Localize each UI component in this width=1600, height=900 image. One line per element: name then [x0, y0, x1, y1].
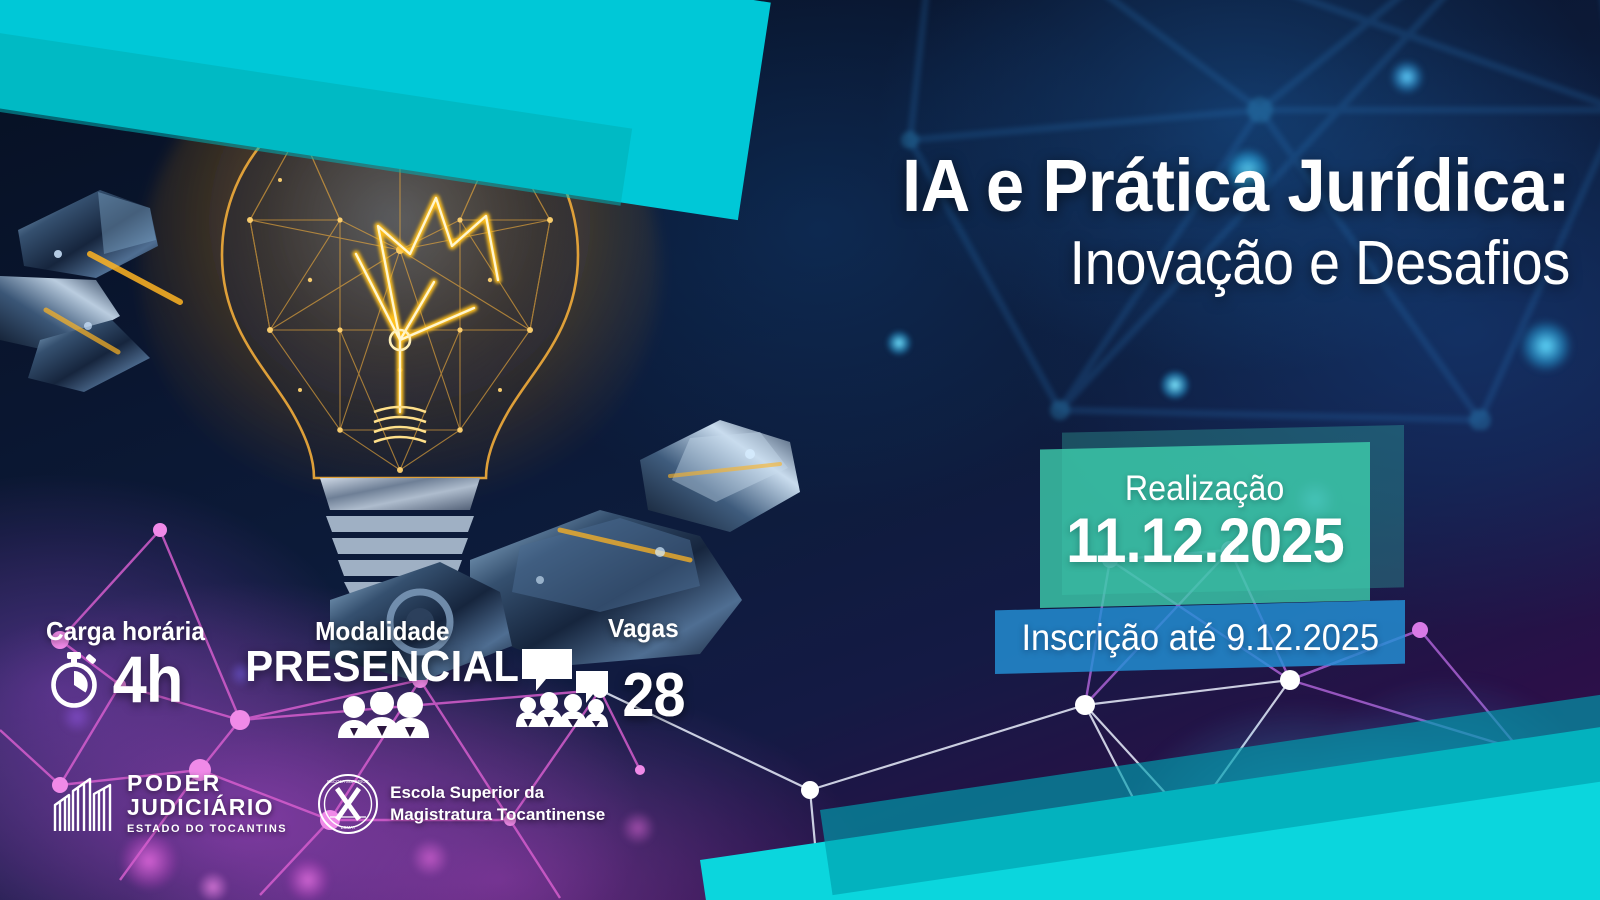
vagas-value: 28: [622, 665, 684, 727]
inscricao-badge: Inscrição até 9.12.2025: [995, 600, 1405, 674]
svg-text:ESCOLA SUPERIOR: ESCOLA SUPERIOR: [327, 779, 369, 784]
event-title: IA e Prática Jurídica:: [761, 150, 1570, 223]
poder-judiciario-line2: JUDICIÁRIO: [127, 796, 287, 820]
poder-judiciario-line3: ESTADO DO TOCANTINS: [127, 822, 287, 836]
logo-esmat: ESCOLA SUPERIOR ESMAT Escola Superior da…: [317, 773, 605, 835]
carga-horaria-label: Carga horária: [46, 618, 205, 644]
people-group-icon: [334, 692, 430, 738]
vagas-label: Vagas: [608, 615, 682, 641]
esmat-seal-icon: ESCOLA SUPERIOR ESMAT: [317, 773, 379, 835]
title-block: IA e Prática Jurídica: Inovação e Desafi…: [700, 150, 1570, 295]
carga-horaria-value: 4h: [113, 646, 183, 712]
inscricao-deadline: Inscrição até 9.12.2025: [1021, 619, 1379, 656]
modalidade-value: PRESENCIAL: [245, 645, 519, 689]
esmat-line1: Escola Superior da: [390, 782, 605, 804]
courthouse-building-icon: [52, 775, 116, 833]
realizacao-label: Realização: [1125, 471, 1284, 506]
stopwatch-icon: [46, 650, 102, 708]
poder-judiciario-line1: PODER: [127, 772, 287, 796]
svg-text:ESMAT: ESMAT: [341, 825, 356, 830]
event-subtitle: Inovação e Desafios: [787, 233, 1570, 295]
info-modalidade: Modalidade PRESENCIAL: [238, 618, 527, 738]
event-banner: IA e Prática Jurídica: Inovação e Desafi…: [0, 0, 1600, 900]
realizacao-badge: Realização 11.12.2025: [1040, 442, 1370, 608]
modalidade-label: Modalidade: [247, 618, 518, 644]
info-carga-horaria: Carga horária 4h: [46, 618, 215, 712]
realizacao-date: 11.12.2025: [1066, 508, 1344, 574]
info-vagas: Vagas: [516, 615, 687, 727]
audience-chat-icon: [516, 643, 612, 727]
logo-poder-judiciario: PODER JUDICIÁRIO ESTADO DO TOCANTINS: [52, 772, 287, 836]
esmat-line2: Magistratura Tocantinense: [390, 804, 605, 826]
logo-strip: PODER JUDICIÁRIO ESTADO DO TOCANTINS: [52, 772, 605, 836]
